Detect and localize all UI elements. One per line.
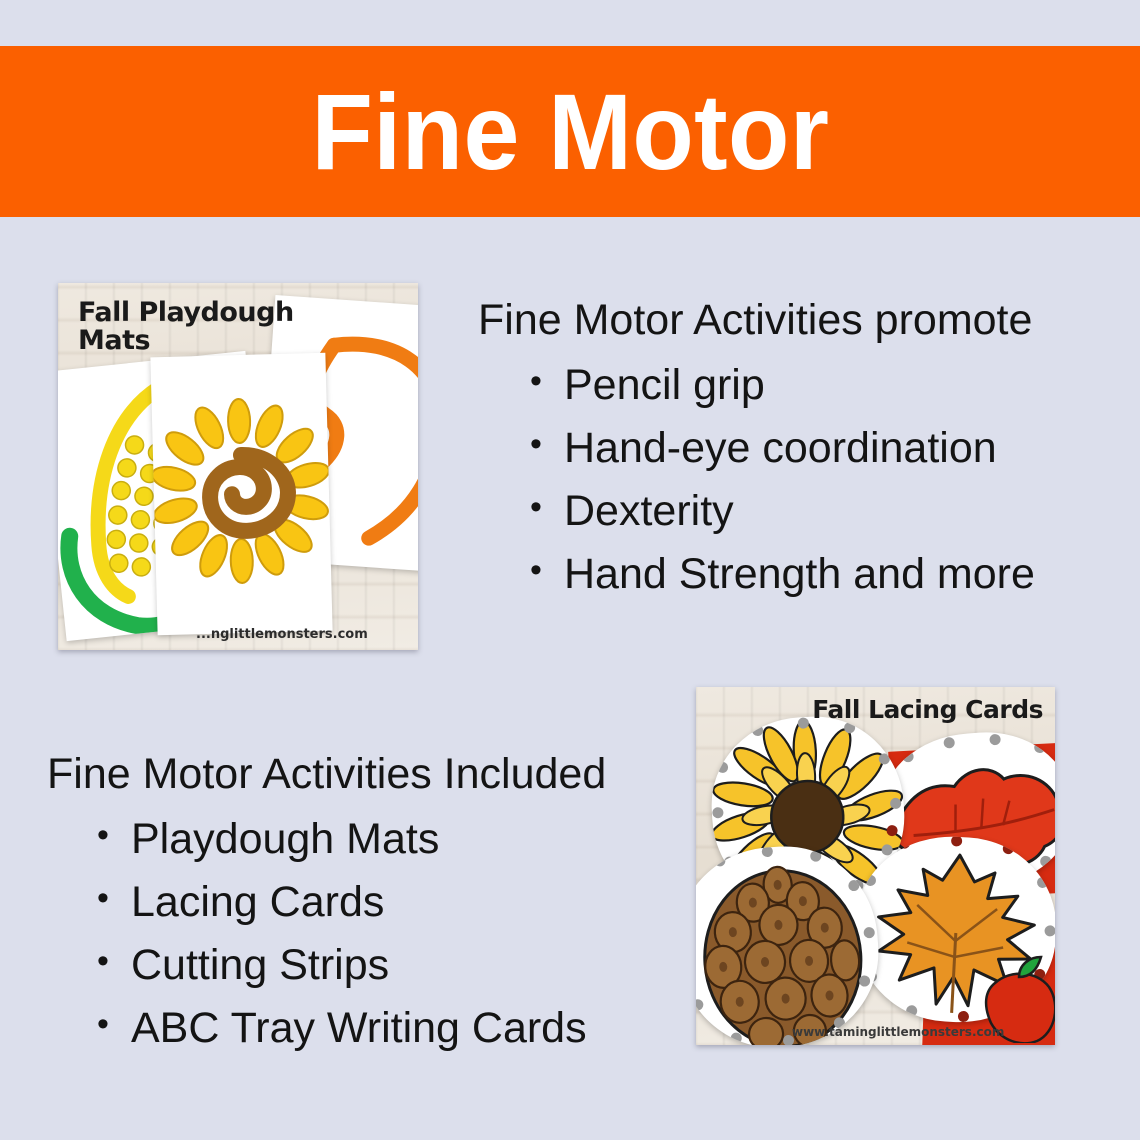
list-item: Hand-eye coordination: [530, 427, 1035, 470]
page-title: Fine Motor: [311, 78, 829, 186]
list-item: ABC Tray Writing Cards: [97, 1007, 606, 1050]
sunflower-illustration: [150, 353, 332, 635]
playdough-photo-title: Fall Playdough Mats: [78, 299, 294, 356]
list-item: Hand Strength and more: [530, 553, 1035, 596]
promote-bullet-list: Pencil grip Hand-eye coordination Dexter…: [530, 364, 1035, 596]
list-item: Cutting Strips: [97, 944, 606, 987]
fine-motor-promote-block: Fine Motor Activities promote Pencil gri…: [478, 298, 1035, 596]
promote-heading: Fine Motor Activities promote: [478, 298, 1035, 344]
fine-motor-included-block: Fine Motor Activities Included Playdough…: [47, 752, 606, 1050]
title-banner: Fine Motor: [0, 46, 1140, 217]
included-heading: Fine Motor Activities Included: [47, 752, 606, 798]
slide-canvas: Fine Motor: [0, 0, 1140, 1140]
list-item: Playdough Mats: [97, 818, 606, 861]
playdough-title-line2: Mats: [78, 327, 294, 355]
list-item: Lacing Cards: [97, 881, 606, 924]
included-bullet-list: Playdough Mats Lacing Cards Cutting Stri…: [97, 818, 606, 1050]
list-item: Dexterity: [530, 490, 1035, 533]
lacing-photo-title: Fall Lacing Cards: [812, 697, 1043, 723]
playdough-mats-photo: Fall Playdough Mats ...nglittlemonsters.…: [58, 283, 418, 650]
list-item: Pencil grip: [530, 364, 1035, 407]
playdough-mat-sunflower: [150, 353, 332, 635]
playdough-watermark: ...nglittlemonsters.com: [196, 627, 368, 642]
lacing-cards-photo: Fall Lacing Cards www.taminglittlemonste…: [696, 687, 1055, 1045]
lacing-watermark: www.taminglittlemonsters.com: [792, 1025, 1004, 1039]
playdough-title-line1: Fall Playdough: [78, 299, 294, 327]
